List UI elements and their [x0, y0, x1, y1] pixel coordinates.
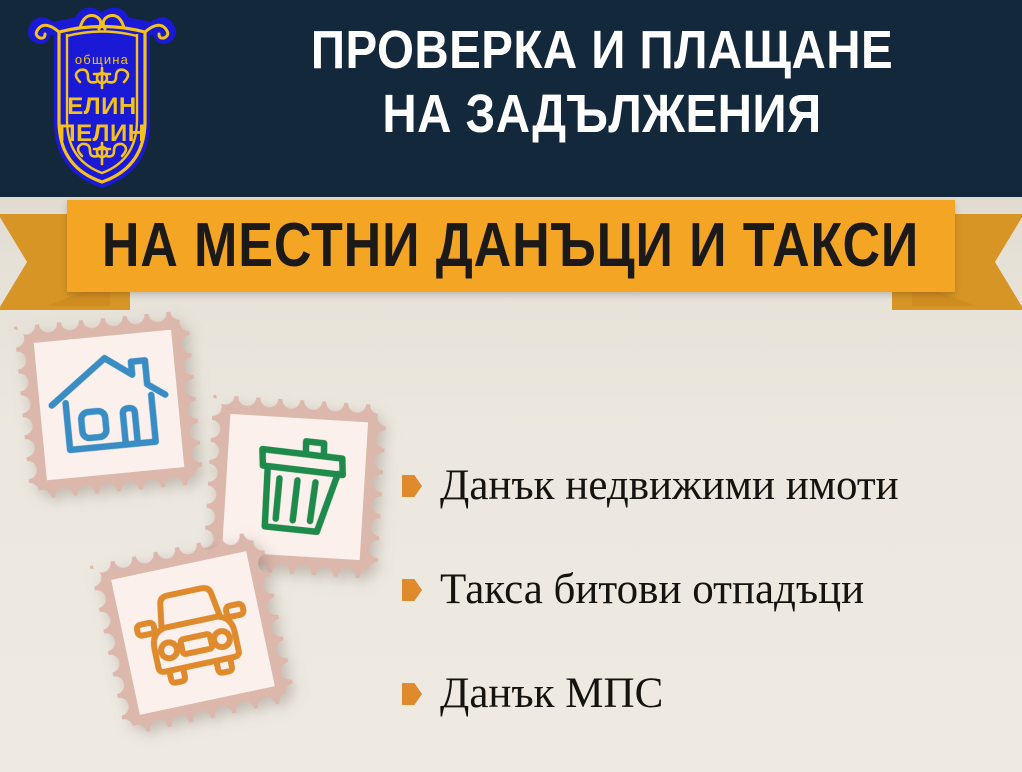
ribbon-panel: НА МЕСТНИ ДАНЪЦИ И ТАКСИ	[67, 200, 955, 292]
car-stamp-svg	[90, 530, 296, 736]
svg-text:ЕЛИН: ЕЛИН	[67, 93, 136, 120]
municipality-crest: община ЕЛИН ПЕЛИН	[22, 4, 182, 194]
ribbon-banner: НА МЕСТНИ ДАНЪЦИ И ТАКСИ	[0, 196, 1022, 316]
stamp-card-car	[90, 530, 296, 736]
poster-canvas: община ЕЛИН ПЕЛИН	[0, 0, 1022, 772]
header-bar: община ЕЛИН ПЕЛИН	[0, 0, 1022, 197]
house-stamp-svg	[14, 310, 204, 500]
list-item[interactable]: Данък недвижими имоти	[402, 434, 1012, 538]
arrow-bullet-icon	[402, 579, 422, 601]
tax-type-list: Данък недвижими имоти Такса битови отпад…	[402, 434, 1012, 746]
arrow-bullet-icon	[402, 475, 422, 497]
list-item-label: Данък недвижими имоти	[440, 462, 899, 510]
list-item-label: Данък МПС	[440, 670, 663, 718]
svg-text:община: община	[75, 52, 129, 67]
arrow-bullet-icon	[402, 683, 422, 705]
title-line-2: НА ЗАДЪЛЖЕНИЯ	[245, 82, 960, 146]
ribbon-text: НА МЕСТНИ ДАНЪЦИ И ТАКСИ	[102, 215, 919, 277]
list-item[interactable]: Такса битови отпадъци	[402, 538, 1012, 642]
page-title: ПРОВЕРКА И ПЛАЩАНЕ НА ЗАДЪЛЖЕНИЯ	[196, 18, 1008, 146]
list-item-label: Такса битови отпадъци	[440, 566, 864, 614]
stamp-card-house	[14, 310, 204, 500]
list-item[interactable]: Данък МПС	[402, 642, 1012, 746]
crest-icon: община ЕЛИН ПЕЛИН	[22, 4, 182, 194]
title-line-1: ПРОВЕРКА И ПЛАЩАНЕ	[245, 18, 960, 82]
